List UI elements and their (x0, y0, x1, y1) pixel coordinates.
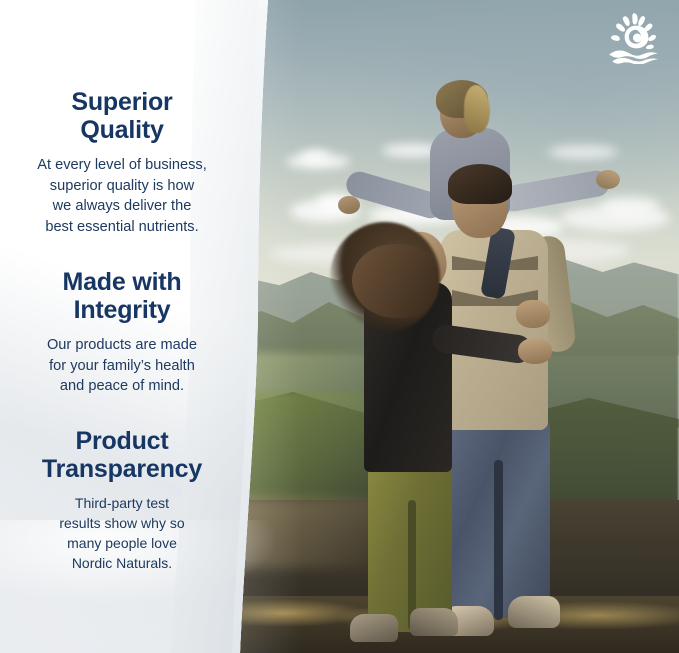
value-prop-product-transparency: Product Transparency Third-party test re… (0, 427, 244, 574)
child-right-hand (596, 170, 620, 189)
value-prop-heading: Made with Integrity (14, 268, 230, 324)
value-prop-heading: Product Transparency (14, 427, 230, 483)
value-prop-body: At every level of business, superior qua… (14, 155, 230, 238)
sun-wave-icon (604, 12, 666, 64)
father-jeans-seam (494, 460, 503, 620)
value-prop-body: Our products are made for your family’s … (14, 335, 230, 397)
child-right-arm (499, 169, 612, 214)
promo-banner: Superior Quality At every level of busin… (0, 0, 679, 653)
mother-hair-mass (352, 244, 438, 318)
nordic-naturals-logo (604, 12, 666, 64)
value-prop-superior-quality: Superior Quality At every level of busin… (0, 88, 244, 238)
mother-shoe-left (350, 614, 398, 642)
father-hair (448, 164, 512, 204)
mother-shoe-right (410, 608, 458, 636)
child-left-hand (338, 196, 360, 214)
value-prop-body: Third-party test results show why so man… (14, 494, 230, 574)
child-hair-highlight (464, 85, 490, 133)
value-prop-heading: Superior Quality (14, 88, 230, 144)
mother-hand (518, 338, 552, 364)
father-shoe-right (508, 596, 560, 628)
value-prop-made-with-integrity: Made with Integrity Our products are mad… (0, 268, 244, 397)
value-props: Superior Quality At every level of busin… (0, 0, 244, 653)
father-hand-on-child (516, 300, 550, 328)
